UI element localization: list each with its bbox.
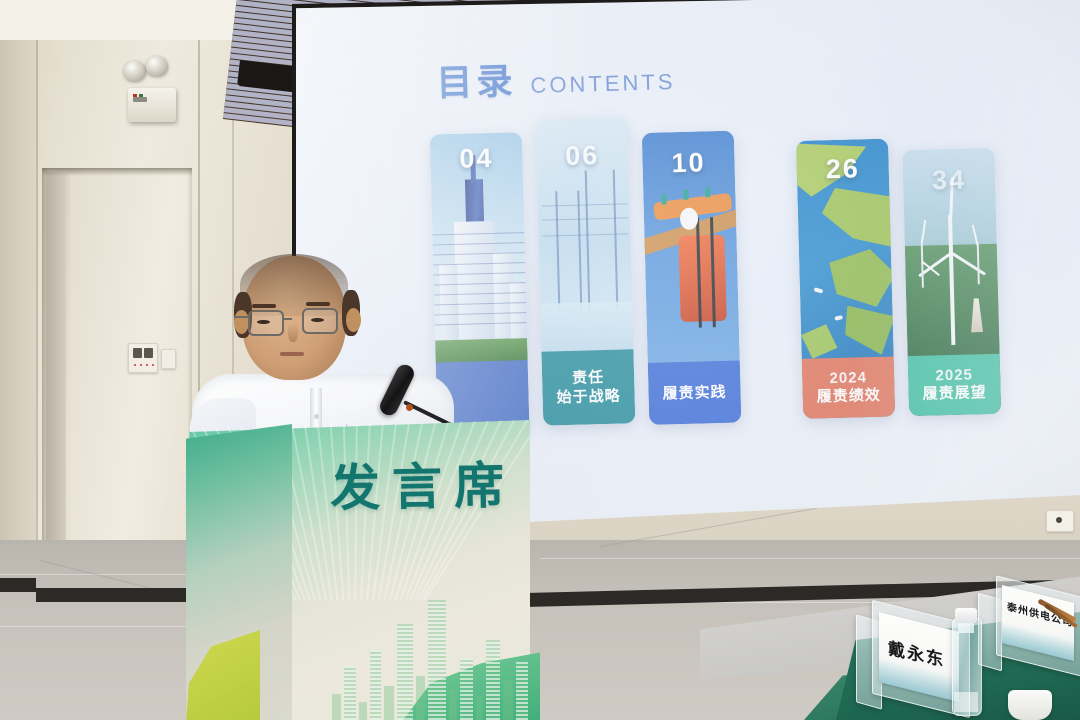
baseboard — [0, 578, 36, 592]
skyline-building — [397, 624, 413, 720]
emergency-light-lamp-icon — [146, 56, 168, 76]
skyline-building — [486, 640, 500, 720]
bottle-cap-icon[interactable] — [955, 608, 977, 623]
switch-led-icon — [152, 364, 154, 366]
light-switch-plate[interactable] — [128, 343, 158, 373]
emergency-light-grille — [133, 97, 147, 102]
skyline-building — [460, 658, 473, 720]
paper-cup[interactable] — [1008, 690, 1052, 720]
skyline-building — [503, 680, 513, 720]
switch-rocker[interactable] — [144, 348, 153, 358]
door-shadow — [42, 168, 192, 176]
baseboard — [36, 588, 200, 602]
switch-led-icon — [146, 364, 148, 366]
skyline-building — [384, 686, 394, 720]
skyline-building — [370, 650, 381, 720]
emergency-light-lamp-icon — [124, 61, 146, 81]
podium-skyline-graphic — [330, 585, 530, 720]
ear — [346, 308, 361, 332]
skyline-building — [359, 702, 367, 720]
switch-led-icon — [140, 364, 142, 366]
eye — [257, 320, 270, 324]
switch-plate-single[interactable] — [161, 349, 176, 369]
eyeglasses-temple — [234, 316, 250, 318]
switch-rocker[interactable] — [133, 348, 142, 358]
eyeglasses-bridge — [282, 318, 292, 320]
skyline-building — [416, 676, 425, 720]
skyline-building — [516, 662, 528, 720]
bottle-label — [954, 692, 978, 712]
nose — [288, 322, 298, 342]
skyline-building — [449, 690, 457, 720]
ear — [234, 310, 249, 334]
eyebrow — [252, 304, 276, 308]
eye — [311, 318, 324, 322]
photo-scene: 目录 CONTENTS — [0, 0, 1080, 720]
skyline-building — [332, 694, 341, 720]
switch-led-icon — [134, 364, 136, 366]
shirt-button — [314, 414, 319, 419]
skyline-building — [428, 600, 446, 720]
eyebrow — [306, 302, 330, 306]
mouth — [280, 352, 304, 356]
outlet-socket-icon — [1056, 517, 1062, 523]
podium-sign-text: 发言席 — [329, 445, 516, 520]
skyline-building — [476, 696, 483, 720]
skyline-building — [344, 666, 356, 720]
